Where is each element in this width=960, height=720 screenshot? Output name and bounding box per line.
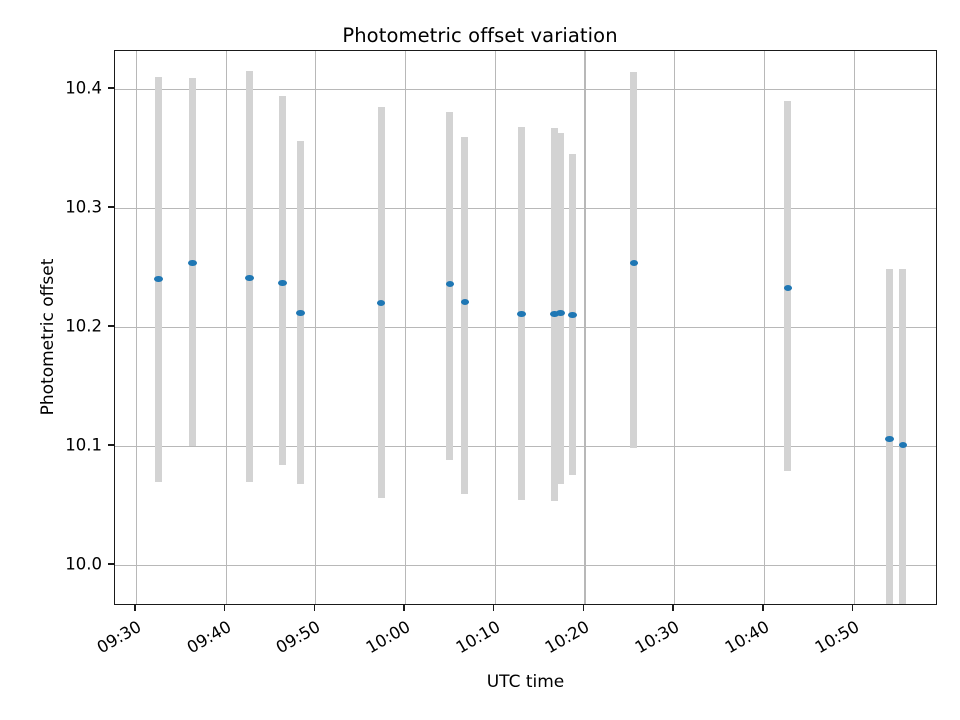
x-axis-title: UTC time bbox=[114, 672, 937, 692]
data-point bbox=[188, 260, 197, 266]
data-point bbox=[784, 285, 793, 291]
chart-title: Photometric offset variation bbox=[0, 24, 960, 47]
y-tick-label: 10.4 bbox=[40, 78, 102, 97]
x-tick-label: 09:50 bbox=[269, 617, 324, 659]
y-axis-title: Photometric offset bbox=[38, 227, 58, 447]
x-tick-mark bbox=[672, 605, 673, 611]
x-tick-mark bbox=[852, 605, 853, 611]
x-tick-label: 10:50 bbox=[807, 617, 862, 659]
error-bar bbox=[557, 133, 564, 484]
x-tick-mark bbox=[224, 605, 225, 611]
x-tick-mark bbox=[314, 605, 315, 611]
x-tick-label: 10:00 bbox=[359, 617, 414, 659]
gridline-horizontal bbox=[115, 208, 936, 209]
plot-axes bbox=[114, 50, 937, 605]
x-tick-label: 09:30 bbox=[90, 617, 145, 659]
data-point bbox=[630, 260, 639, 266]
y-tick-label: 10.3 bbox=[40, 197, 102, 216]
data-point bbox=[517, 311, 526, 317]
x-tick-label: 10:40 bbox=[718, 617, 773, 659]
x-tick-label: 10:20 bbox=[538, 617, 593, 659]
y-tick-mark bbox=[108, 325, 114, 326]
gridline-horizontal bbox=[115, 446, 936, 447]
x-tick-mark bbox=[762, 605, 763, 611]
data-point bbox=[278, 280, 287, 286]
data-point bbox=[899, 442, 908, 448]
data-point bbox=[568, 312, 577, 318]
data-point bbox=[885, 436, 894, 442]
chart-figure: Photometric offset variation 09:3009:400… bbox=[0, 0, 960, 720]
gridline-horizontal bbox=[115, 327, 936, 328]
y-tick-mark bbox=[108, 563, 114, 564]
data-point bbox=[556, 310, 565, 316]
x-tick-label: 10:10 bbox=[449, 617, 504, 659]
y-tick-mark bbox=[108, 87, 114, 88]
x-tick-mark bbox=[403, 605, 404, 611]
error-bar bbox=[461, 137, 468, 494]
error-bar bbox=[899, 269, 906, 604]
x-tick-label: 09:40 bbox=[180, 617, 235, 659]
y-tick-mark bbox=[108, 444, 114, 445]
plot-area bbox=[115, 51, 936, 604]
x-tick-label: 10:30 bbox=[628, 617, 683, 659]
x-tick-mark bbox=[493, 605, 494, 611]
data-point bbox=[296, 310, 305, 316]
x-tick-mark bbox=[134, 605, 135, 611]
y-tick-label: 10.0 bbox=[40, 555, 102, 574]
gridline-horizontal bbox=[115, 565, 936, 566]
gridline-horizontal bbox=[115, 89, 936, 90]
y-tick-mark bbox=[108, 206, 114, 207]
x-tick-mark bbox=[583, 605, 584, 611]
